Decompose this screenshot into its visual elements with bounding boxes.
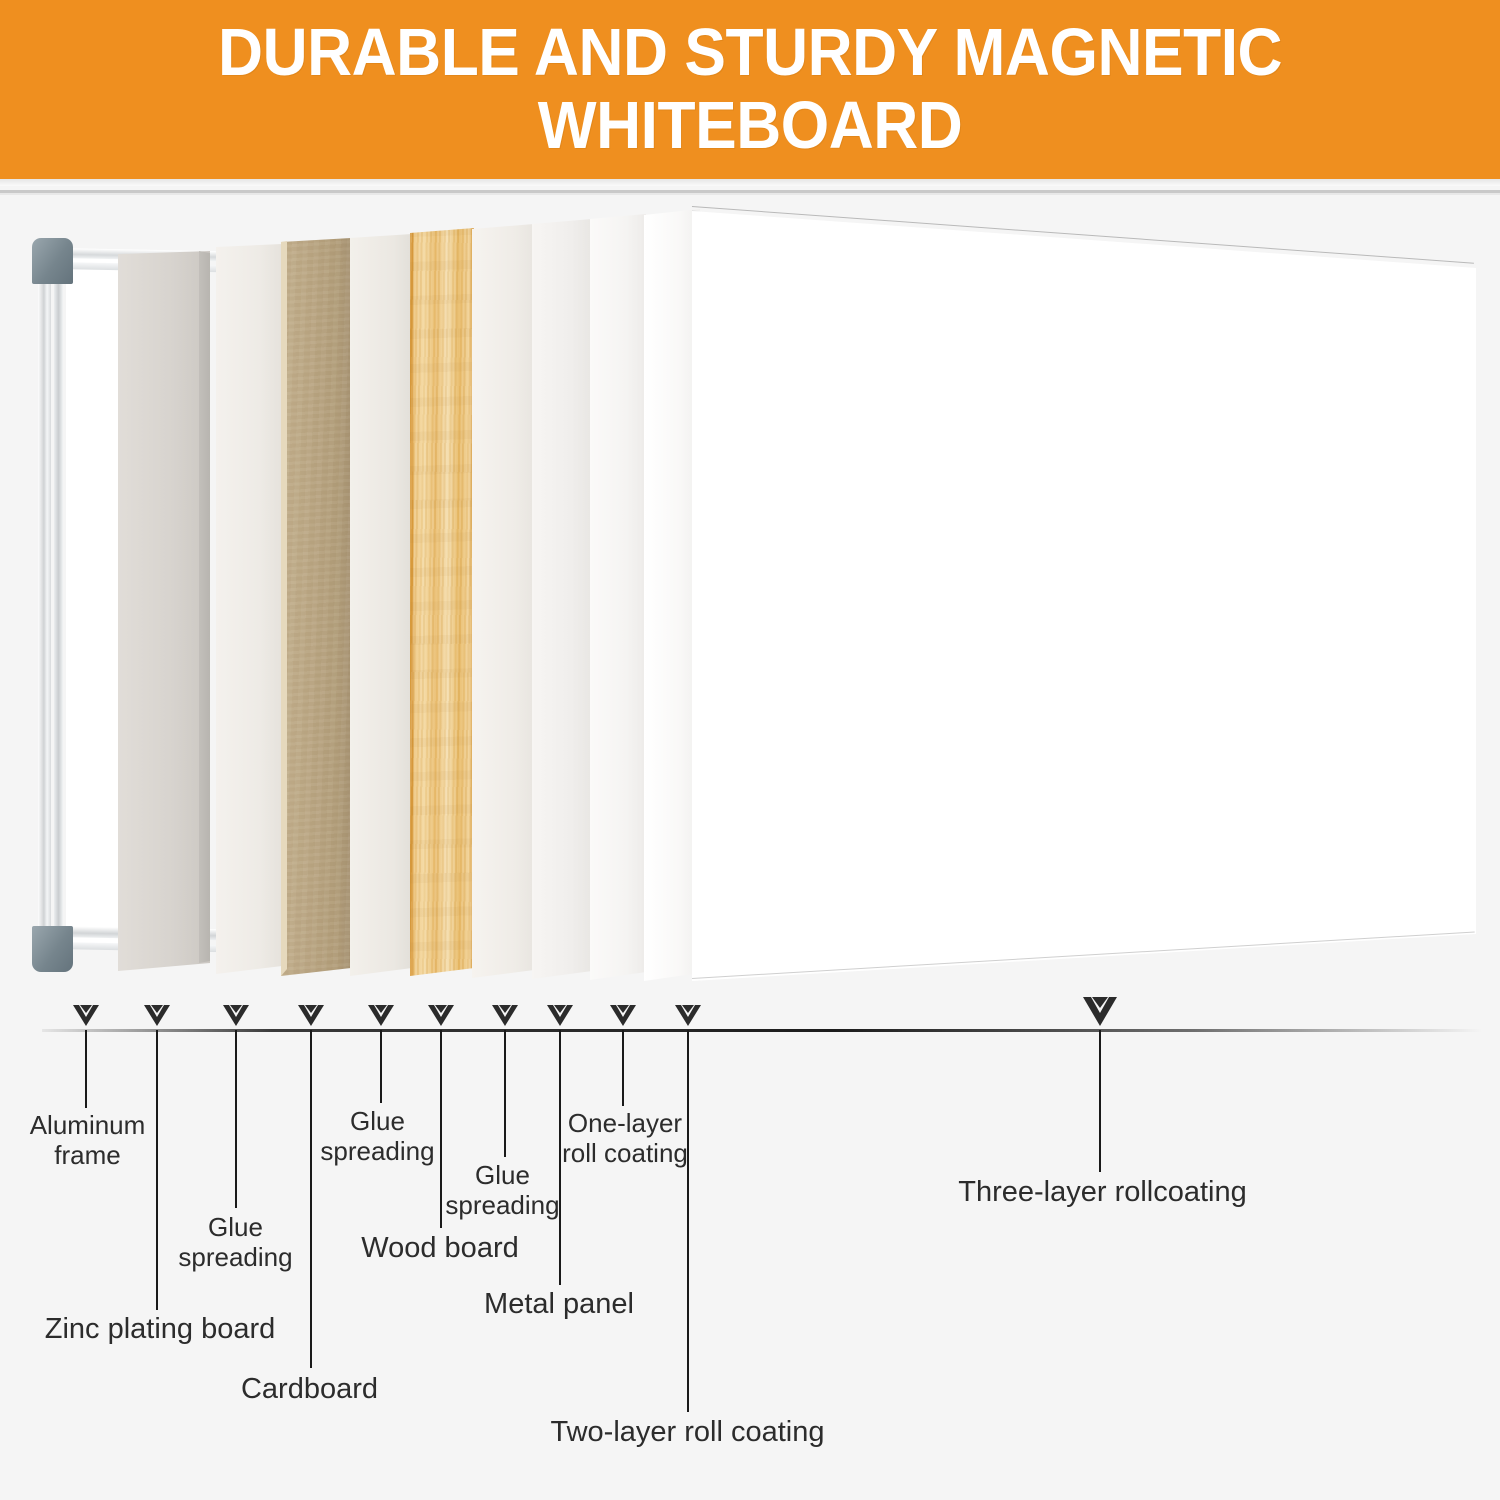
- callout-label-cardboard: Cardboard: [212, 1373, 407, 1407]
- banner-title: DURABLE AND STURDY MAGNETIC WHITEBOARD: [181, 17, 1319, 162]
- header-banner: DURABLE AND STURDY MAGNETIC WHITEBOARD: [0, 0, 1500, 179]
- leader-line-one-layer-roll-coating: [622, 1030, 624, 1106]
- banner-divider-rule-secondary: [0, 193, 1500, 195]
- glue-spreading-layer-1: [216, 244, 282, 974]
- leader-line-two-layer-roll-coating: [687, 1030, 689, 1412]
- chevron-down-icon: [608, 1004, 638, 1030]
- frame-rail-left-outer: [38, 240, 51, 962]
- leader-line-glue-spreading-3: [504, 1030, 506, 1157]
- callout-label-zinc-plating-board: Zinc plating board: [30, 1313, 290, 1347]
- chevron-down-icon: [673, 1004, 703, 1030]
- callout-label-aluminum-frame: Aluminum frame: [20, 1110, 155, 1171]
- glue-spreading-layer-3: [472, 224, 534, 978]
- chevron-down-icon: [426, 1004, 456, 1030]
- callout-label-metal-panel: Metal panel: [450, 1288, 668, 1322]
- three-layer-rollcoating-layer: [692, 206, 1476, 992]
- chevron-down-icon: [545, 1004, 575, 1030]
- frame-rail-left-inner: [54, 246, 63, 958]
- callout-label-wood-board: Wood board: [330, 1232, 550, 1266]
- callout-label-two-layer-roll-coating: Two-layer roll coating: [525, 1416, 850, 1450]
- chevron-down-icon: [1081, 996, 1111, 1022]
- callout-label-three-layer-rollcoating: Three-layer rollcoating: [920, 1176, 1285, 1210]
- leader-line-glue-spreading-1: [235, 1030, 237, 1208]
- one-layer-roll-coating-layer: [590, 214, 646, 980]
- zinc-plating-board-layer: [118, 251, 210, 971]
- callout-label-glue-spreading-1: Glue spreading: [158, 1212, 313, 1273]
- product-exploded-illustration: [0, 196, 1500, 996]
- glue-spreading-layer-2: [350, 234, 412, 976]
- frame-corner-cap-top: [32, 238, 73, 284]
- chevron-down-icon: [296, 1004, 326, 1030]
- frame-inner-face: [66, 258, 126, 944]
- leader-line-aluminum-frame: [85, 1030, 87, 1108]
- callout-axis-rule: [42, 1029, 1482, 1032]
- metal-panel-layer: [532, 219, 592, 979]
- frame-corner-cap-bottom: [32, 926, 73, 972]
- cardboard-layer: [281, 238, 351, 976]
- callout-label-glue-spreading-3: Glue spreading: [425, 1160, 580, 1221]
- chevron-down-icon: [490, 1004, 520, 1030]
- leader-line-cardboard: [310, 1030, 312, 1368]
- chevron-down-icon: [142, 1004, 172, 1030]
- callout-label-glue-spreading-2: Glue spreading: [300, 1106, 455, 1167]
- chevron-down-icon: [366, 1004, 396, 1030]
- chevron-down-icon: [221, 1004, 251, 1030]
- callout-label-one-layer-roll-coating: One-layer roll coating: [530, 1108, 720, 1169]
- leader-line-glue-spreading-2: [380, 1030, 382, 1103]
- leader-line-three-layer-rollcoating: [1099, 1030, 1101, 1172]
- banner-shadow: [0, 179, 1500, 186]
- chevron-down-icon: [71, 1004, 101, 1030]
- wood-board-layer: [410, 228, 474, 976]
